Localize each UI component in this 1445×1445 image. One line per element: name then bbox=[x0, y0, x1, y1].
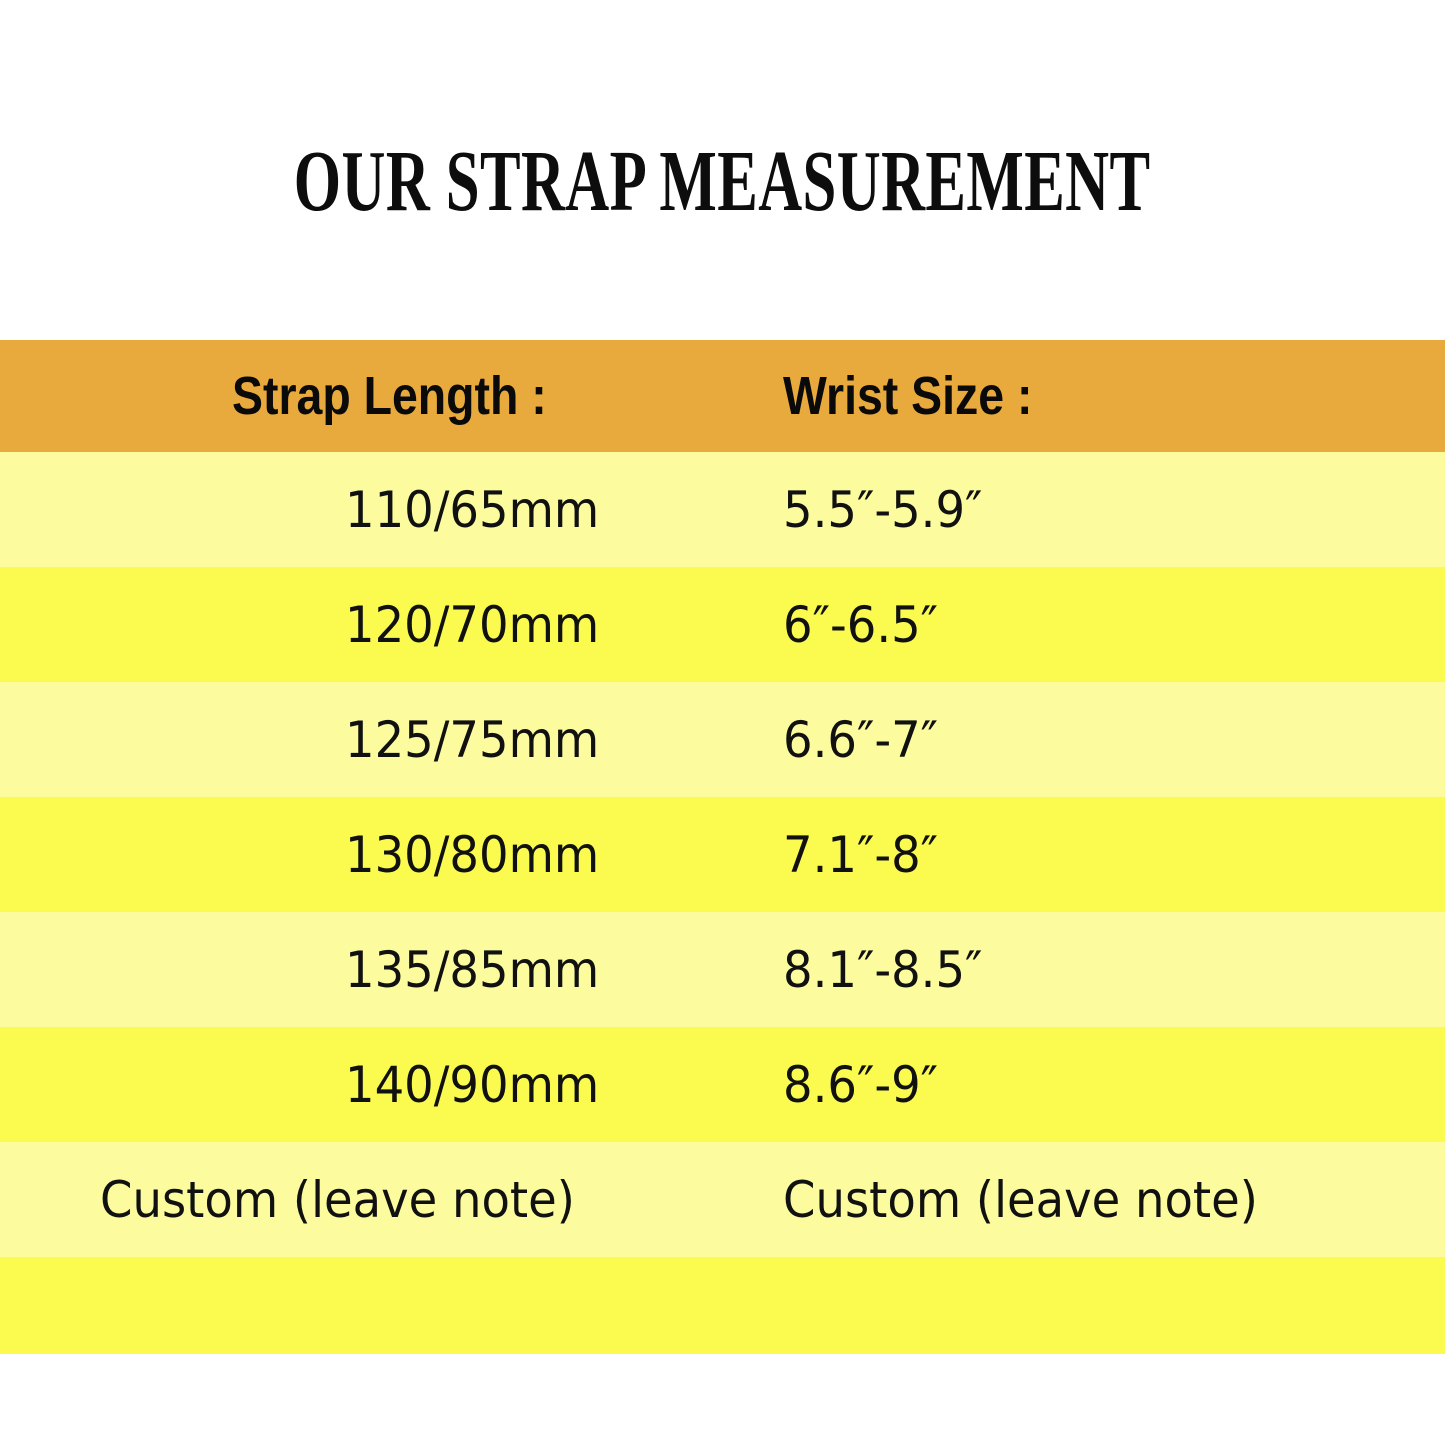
cell-strap-length: 125/75mm bbox=[0, 715, 783, 765]
cell-wrist-size: 7.1″-8″ bbox=[783, 830, 1445, 880]
cell-wrist-size: 5.5″-5.9″ bbox=[783, 485, 1445, 535]
value-wrist-size: 5.5″-5.9″ bbox=[783, 485, 982, 535]
value-strap-length: 120/70mm bbox=[345, 600, 599, 650]
value-strap-length: 110/65mm bbox=[345, 485, 599, 535]
header-cell-wrist-size: Wrist Size : bbox=[783, 369, 1445, 423]
table-row: 125/75mm 6.6″-7″ bbox=[0, 682, 1445, 797]
value-strap-length: 125/75mm bbox=[345, 715, 599, 765]
header-label-wrist-size: Wrist Size : bbox=[783, 369, 1032, 423]
cell-wrist-size: 6″-6.5″ bbox=[783, 600, 1445, 650]
cell-strap-length: 135/85mm bbox=[0, 945, 783, 995]
value-strap-length: 130/80mm bbox=[345, 830, 599, 880]
value-strap-length: Custom (leave note) bbox=[100, 1175, 575, 1225]
value-wrist-size: 8.6″-9″ bbox=[783, 1060, 938, 1110]
value-wrist-size: 6″-6.5″ bbox=[783, 600, 938, 650]
table-row: 120/70mm 6″-6.5″ bbox=[0, 567, 1445, 682]
value-wrist-size: 8.1″-8.5″ bbox=[783, 945, 982, 995]
cell-wrist-size: 8.6″-9″ bbox=[783, 1060, 1445, 1110]
table-row: 140/90mm 8.6″-9″ bbox=[0, 1027, 1445, 1142]
measurement-table: Strap Length : Wrist Size : 110/65mm 5.5… bbox=[0, 340, 1445, 1354]
value-strap-length: 140/90mm bbox=[345, 1060, 599, 1110]
title-block: OUR STRAP MEASUREMENT bbox=[0, 0, 1445, 340]
cell-wrist-size: Custom (leave note) bbox=[783, 1175, 1445, 1225]
header-label-strap-length: Strap Length : bbox=[232, 369, 547, 423]
cell-strap-length: 110/65mm bbox=[0, 485, 783, 535]
header-cell-strap-length: Strap Length : bbox=[0, 369, 783, 423]
table-row: 135/85mm 8.1″-8.5″ bbox=[0, 912, 1445, 1027]
table-row: 130/80mm 7.1″-8″ bbox=[0, 797, 1445, 912]
value-wrist-size: 7.1″-8″ bbox=[783, 830, 938, 880]
value-strap-length: 135/85mm bbox=[345, 945, 599, 995]
table-header-row: Strap Length : Wrist Size : bbox=[0, 340, 1445, 452]
cell-wrist-size: 8.1″-8.5″ bbox=[783, 945, 1445, 995]
cell-wrist-size: 6.6″-7″ bbox=[783, 715, 1445, 765]
cell-strap-length: Custom (leave note) bbox=[0, 1175, 783, 1225]
cell-strap-length: 120/70mm bbox=[0, 600, 783, 650]
cell-strap-length: 140/90mm bbox=[0, 1060, 783, 1110]
table-row: 110/65mm 5.5″-5.9″ bbox=[0, 452, 1445, 567]
page-title: OUR STRAP MEASUREMENT bbox=[294, 137, 1151, 224]
value-wrist-size: 6.6″-7″ bbox=[783, 715, 938, 765]
value-wrist-size: Custom (leave note) bbox=[783, 1175, 1258, 1225]
table-row: Custom (leave note) Custom (leave note) bbox=[0, 1142, 1445, 1257]
table-footer-band bbox=[0, 1257, 1445, 1354]
cell-strap-length: 130/80mm bbox=[0, 830, 783, 880]
